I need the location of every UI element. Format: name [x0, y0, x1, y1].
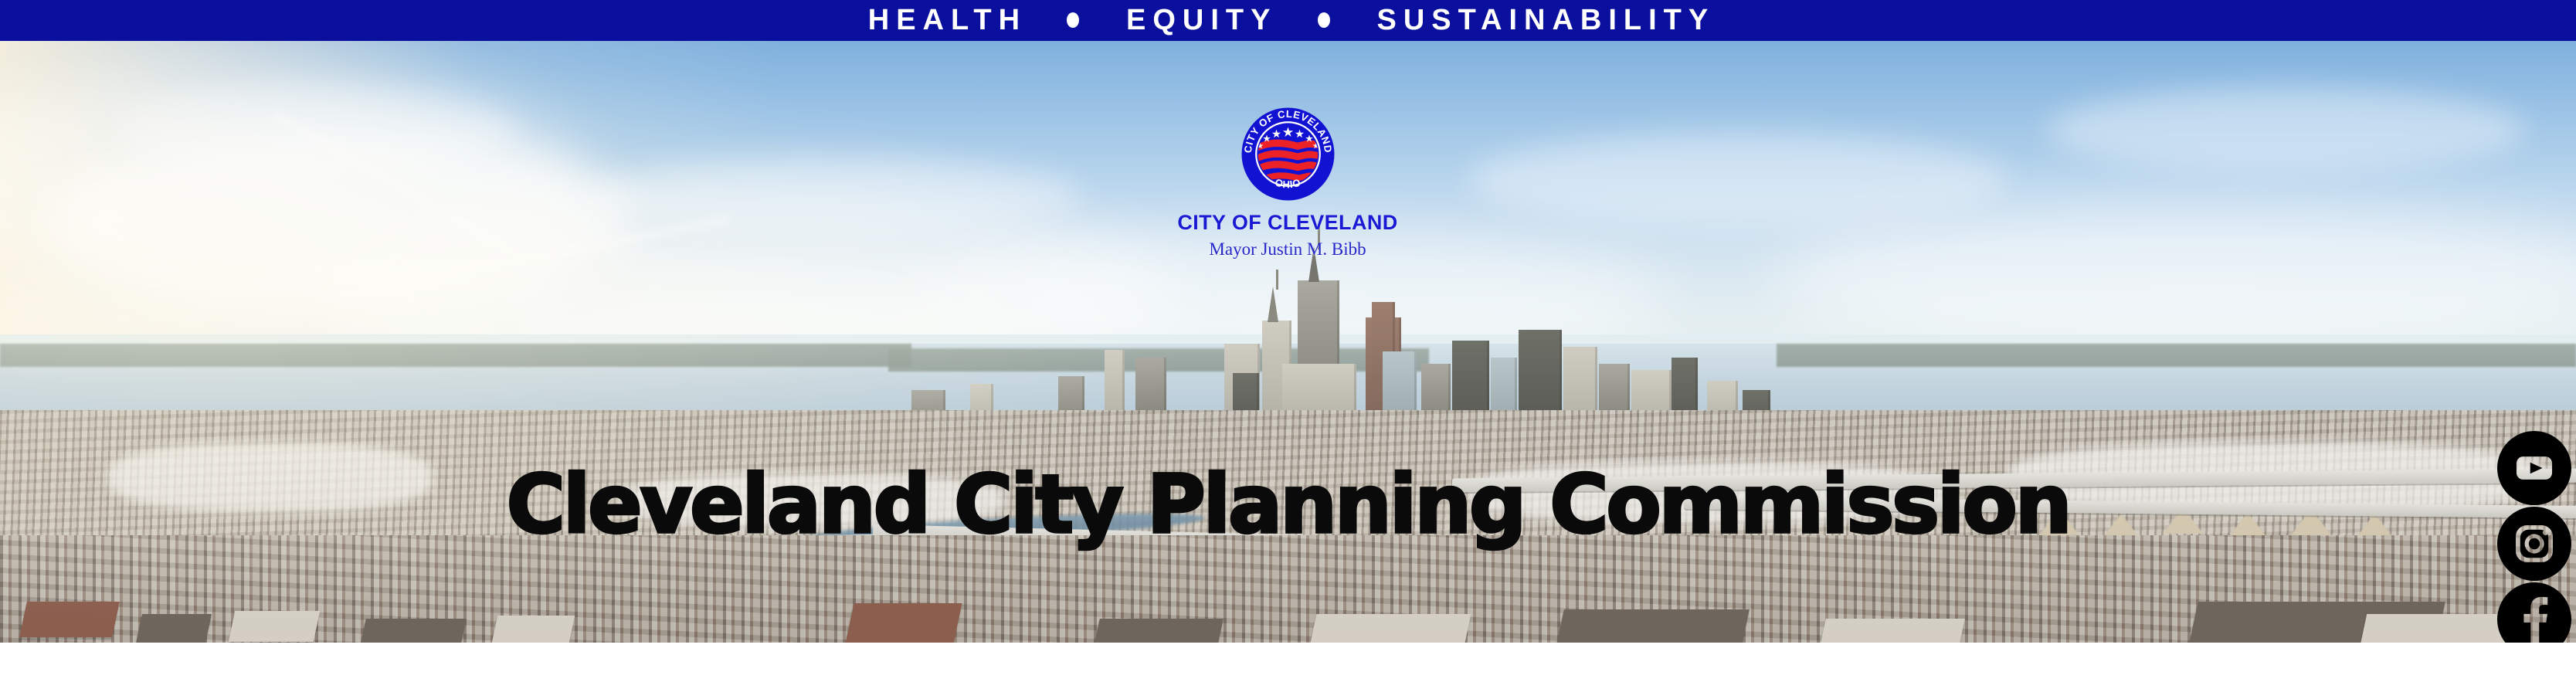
page-title: Cleveland City Planning Commission — [0, 464, 2576, 545]
hero-photo: CITY OF CLEVELAND OHIO CITY OF CLEVELAND… — [0, 41, 2576, 643]
city-branding-lockup: CITY OF CLEVELAND OHIO CITY OF CLEVELAND… — [1087, 106, 1488, 258]
instagram-icon[interactable] — [2497, 507, 2571, 581]
youtube-icon[interactable] — [2497, 431, 2571, 505]
slogan-word-equity: EQUITY — [1119, 5, 1277, 35]
slogan-word-sustainability: SUSTAINABILITY — [1370, 5, 1716, 35]
facebook-icon[interactable] — [2497, 582, 2571, 643]
slogan-word-health: HEALTH — [861, 5, 1027, 35]
slogan-banner: HEALTH EQUITY SUSTAINABILITY — [0, 0, 2576, 41]
city-of-cleveland-seal: CITY OF CLEVELAND OHIO — [1240, 106, 1336, 202]
mayor-name-label: Mayor Justin M. Bibb — [1087, 240, 1488, 258]
city-name-label: CITY OF CLEVELAND — [1087, 212, 1488, 233]
bullet-dot-icon — [1318, 12, 1330, 28]
bullet-dot-icon — [1067, 12, 1079, 28]
social-links-rail[interactable] — [2497, 431, 2571, 643]
slogan-text-group: HEALTH EQUITY SUSTAINABILITY — [861, 5, 1716, 35]
page-root: HEALTH EQUITY SUSTAINABILITY — [0, 0, 2576, 682]
